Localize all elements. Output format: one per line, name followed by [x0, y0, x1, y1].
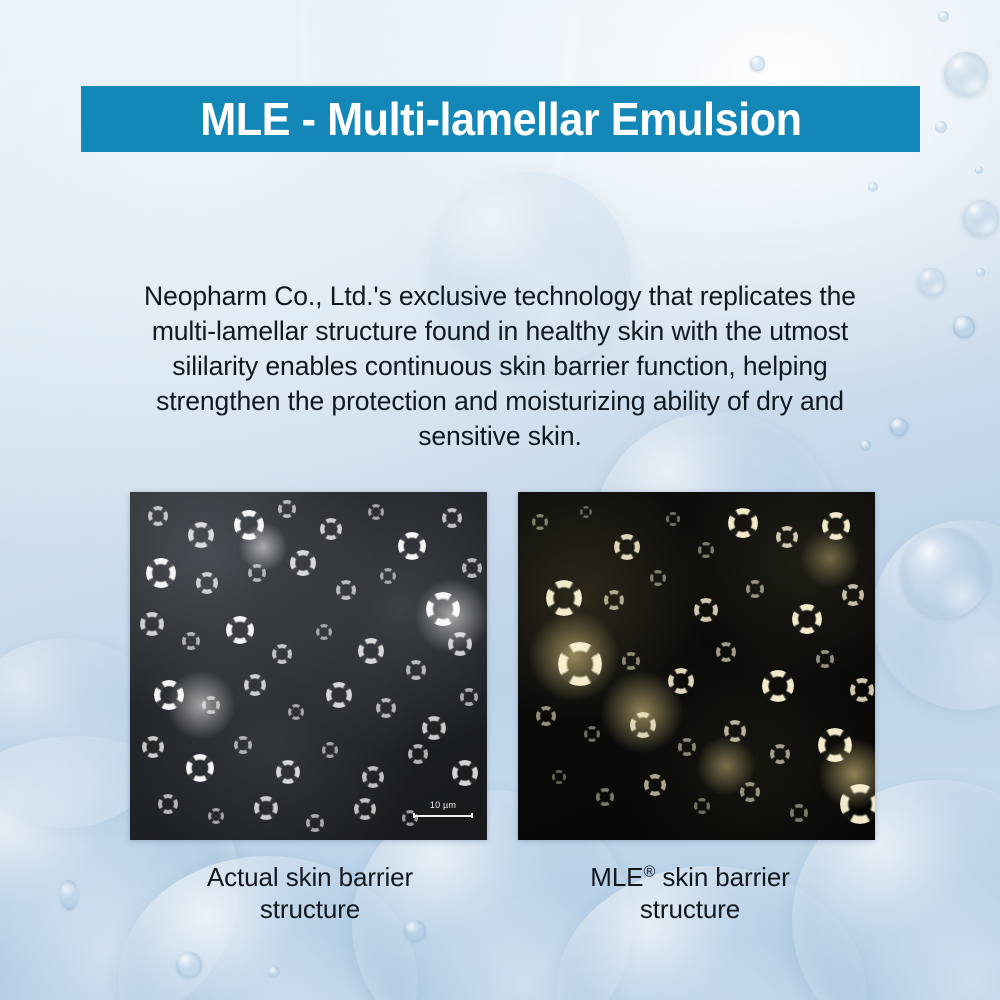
vesicle-maltese-cross — [196, 572, 218, 594]
vesicle-maltese-cross — [320, 518, 342, 540]
background-bubble — [900, 528, 990, 618]
vesicle-maltese-cross — [244, 674, 266, 696]
vesicle-maltese-cross — [776, 526, 798, 548]
vesicle-maltese-cross — [746, 580, 764, 598]
vesicle-maltese-cross — [146, 558, 176, 588]
vesicle-maltese-cross — [208, 808, 224, 824]
background-bubble — [953, 316, 975, 338]
vesicle-maltese-cross — [158, 794, 178, 814]
background-bubble — [944, 52, 988, 96]
vesicle-maltese-cross — [226, 616, 254, 644]
vesicle-maltese-cross — [406, 660, 426, 680]
caption-line-2: structure — [640, 894, 740, 924]
background-bubble — [938, 11, 949, 22]
figure-mle-skin-barrier-image — [518, 492, 875, 840]
background-bubble — [268, 966, 280, 978]
page-title: MLE - Multi-lamellar Emulsion — [200, 96, 801, 142]
vesicle-maltese-cross — [422, 716, 446, 740]
vesicle-maltese-cross — [740, 782, 760, 802]
figure-actual-skin-barrier-image: 10 µm — [130, 492, 487, 840]
vesicle-maltese-cross — [380, 568, 396, 584]
background-bubble — [176, 952, 202, 978]
vesicle-maltese-cross — [630, 712, 656, 738]
background-bubble — [890, 418, 908, 436]
vesicle-maltese-cross — [288, 704, 304, 720]
vesicle-maltese-cross — [426, 592, 460, 626]
vesicle-maltese-cross — [532, 514, 548, 530]
vesicle-maltese-cross — [316, 624, 332, 640]
background-bubble — [918, 268, 945, 295]
vesicle-maltese-cross — [694, 798, 710, 814]
vesicle-maltese-cross — [188, 522, 214, 548]
vesicle-maltese-cross — [724, 720, 746, 742]
vesicle-maltese-cross — [762, 670, 794, 702]
vesicle-maltese-cross — [442, 508, 462, 528]
vesicle-maltese-cross — [716, 642, 736, 662]
vesicle-maltese-cross — [254, 796, 278, 820]
vesicle-maltese-cross — [272, 644, 292, 664]
vesicle-maltese-cross — [142, 736, 164, 758]
vesicle-maltese-cross — [278, 500, 296, 518]
caption-line-1-post: skin barrier — [655, 862, 790, 892]
vesicle-maltese-cross — [850, 678, 874, 702]
title-banner: MLE - Multi-lamellar Emulsion — [81, 86, 920, 152]
caption-line-1-pre: MLE — [590, 862, 643, 892]
vesicle-maltese-cross — [614, 534, 640, 560]
vesicle-maltese-cross — [460, 688, 478, 706]
vesicle-maltese-cross — [558, 642, 602, 686]
vesicle-maltese-cross — [398, 532, 426, 560]
vesicle-maltese-cross — [728, 508, 758, 538]
vesicle-maltese-cross — [596, 788, 614, 806]
vesicle-maltese-cross — [678, 738, 696, 756]
vesicle-maltese-cross — [842, 584, 864, 606]
vesicle-maltese-cross — [452, 760, 478, 786]
vesicle-maltese-cross — [202, 696, 220, 714]
vesicle-maltese-cross — [462, 558, 482, 578]
vesicle-maltese-cross — [790, 804, 808, 822]
figure-caption-mle-skin-barrier: MLE® skin barrier structure — [490, 861, 890, 925]
figure-caption-actual-skin-barrier: Actual skin barrier structure — [110, 861, 510, 925]
scale-bar-label: 10 µm — [413, 800, 473, 811]
vesicle-maltese-cross — [234, 736, 252, 754]
vesicle-maltese-cross — [290, 550, 316, 576]
vesicle-maltese-cross — [650, 570, 666, 586]
background-bubble-large-2 — [872, 520, 1000, 710]
vesicle-maltese-cross — [234, 510, 264, 540]
vesicle-maltese-cross — [552, 770, 566, 784]
vesicle-maltese-cross — [362, 766, 384, 788]
background-bubble — [976, 268, 985, 277]
vesicle-maltese-cross — [148, 506, 168, 526]
vesicle-maltese-cross — [546, 580, 582, 616]
vesicle-maltese-cross — [326, 682, 352, 708]
registered-trademark-icon: ® — [643, 862, 655, 880]
vesicle-maltese-cross — [248, 564, 266, 582]
description-paragraph: Neopharm Co., Ltd.'s exclusive technolog… — [140, 279, 860, 454]
vesicle-maltese-cross — [792, 604, 822, 634]
vesicle-maltese-cross — [584, 726, 600, 742]
vesicle-maltese-cross — [322, 742, 338, 758]
vesicle-maltese-cross — [140, 612, 164, 636]
vesicle-maltese-cross — [408, 744, 428, 764]
vesicle-maltese-cross — [336, 580, 356, 600]
vesicle-maltese-cross — [358, 638, 384, 664]
vesicle-maltese-cross — [368, 504, 384, 520]
vesicle-maltese-cross — [580, 506, 592, 518]
scale-bar-line — [413, 813, 473, 818]
vesicle-maltese-cross — [698, 542, 714, 558]
vesicle-maltese-cross — [816, 650, 834, 668]
vesicle-maltese-cross — [644, 774, 666, 796]
background-bubble — [750, 56, 765, 71]
vesicle-maltese-cross — [536, 706, 556, 726]
vesicle-maltese-cross — [770, 744, 790, 764]
vesicle-maltese-cross — [622, 652, 640, 670]
vesicle-maltese-cross — [822, 512, 850, 540]
vesicle-maltese-cross — [448, 632, 472, 656]
vesicle-maltese-cross — [354, 798, 376, 820]
background-bubble — [975, 166, 983, 174]
vesicle-maltese-cross — [154, 680, 184, 710]
poster-canvas: MLE - Multi-lamellar Emulsion Neopharm C… — [0, 0, 1000, 1000]
background-bubble — [963, 200, 999, 236]
background-bubble — [60, 880, 78, 910]
vesicle-maltese-cross — [668, 668, 694, 694]
background-bubble — [868, 182, 878, 192]
caption-line-2: structure — [260, 894, 360, 924]
background-bubble — [860, 440, 871, 451]
vesicle-maltese-cross — [666, 512, 680, 526]
vesicle-maltese-cross — [818, 728, 852, 762]
vesicle-maltese-cross — [840, 784, 875, 824]
vesicle-maltese-cross — [186, 754, 214, 782]
vesicle-maltese-cross — [306, 814, 324, 832]
background-bubble — [935, 121, 947, 133]
micrograph-field — [130, 492, 487, 840]
caption-line-1: Actual skin barrier — [207, 862, 413, 892]
vesicle-maltese-cross — [604, 590, 624, 610]
scale-bar: 10 µm — [413, 800, 473, 818]
vesicle-maltese-cross — [276, 760, 300, 784]
vesicle-maltese-cross — [694, 598, 718, 622]
vesicle-maltese-cross — [376, 698, 396, 718]
vesicle-maltese-cross — [182, 632, 200, 650]
